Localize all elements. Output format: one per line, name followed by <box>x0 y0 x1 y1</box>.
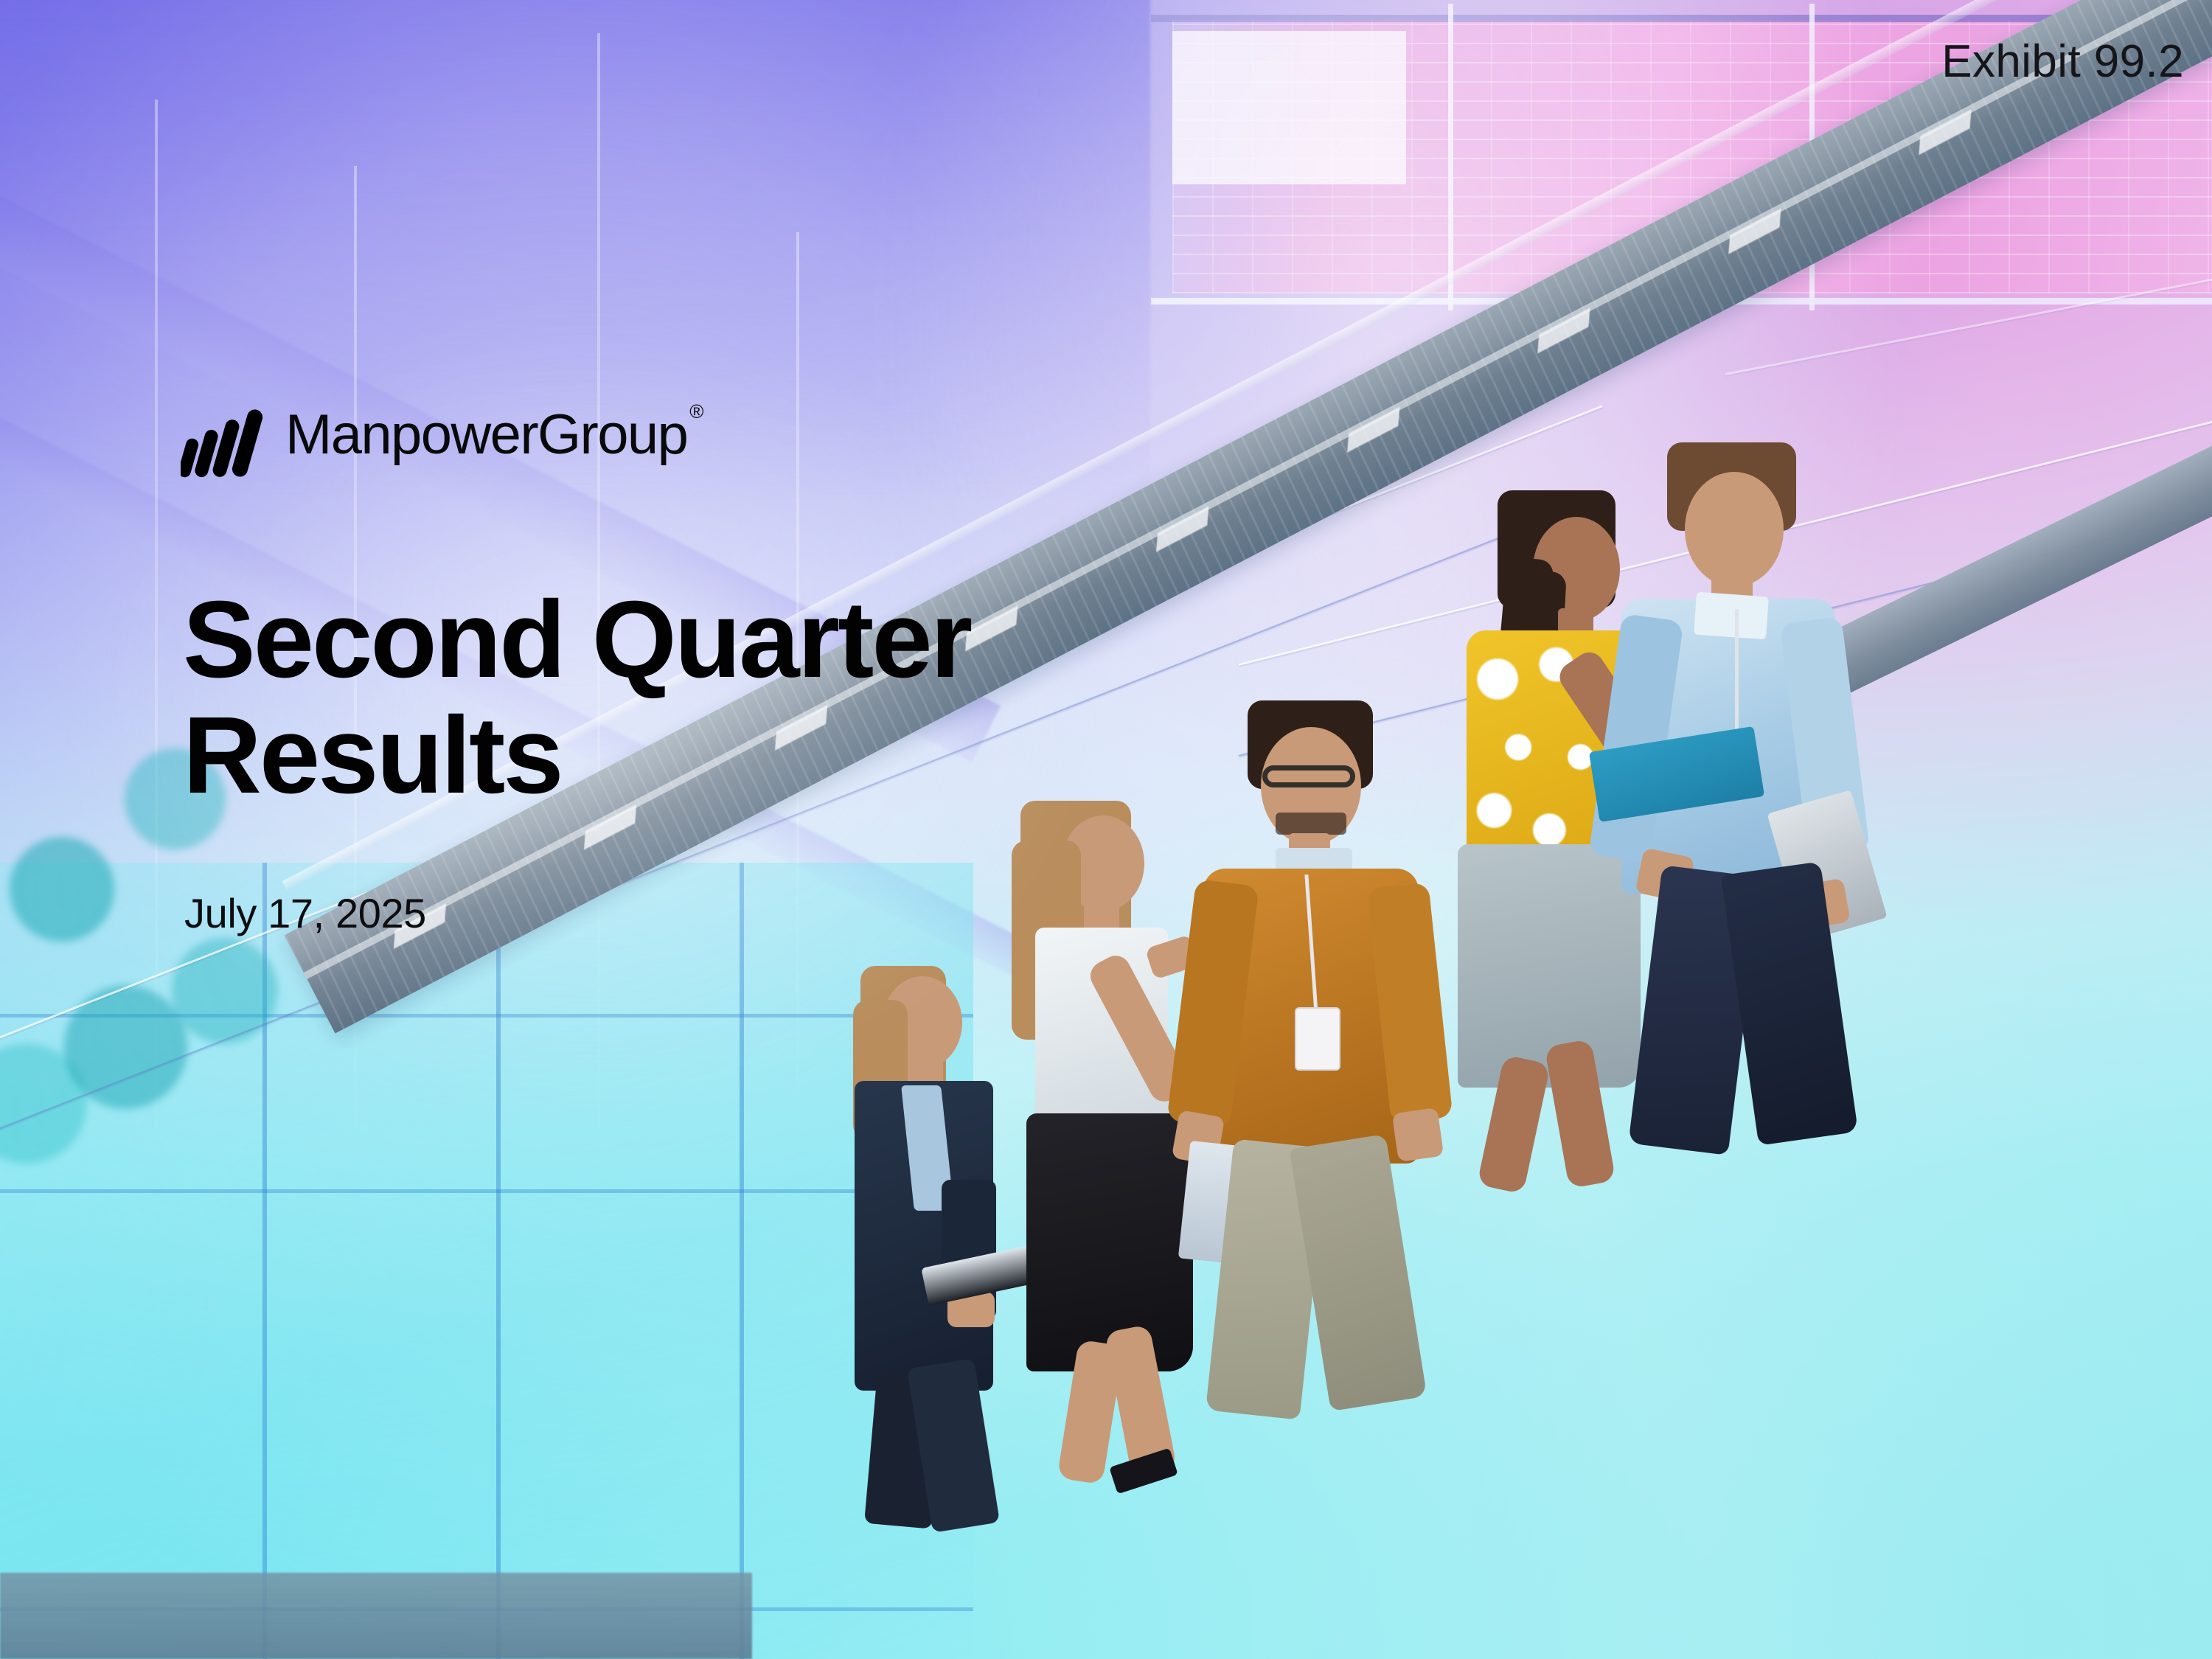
registered-trademark-mark: ® <box>689 400 703 422</box>
step-nosing <box>1919 109 1972 155</box>
glass-mullion-vertical <box>496 863 501 1659</box>
step-nosing <box>1347 407 1399 453</box>
eyeglasses <box>1262 765 1355 787</box>
step-nosing <box>965 605 1018 651</box>
exhibit-label: Exhibit 99.2 <box>1941 35 2184 88</box>
glass-mullion-vertical <box>740 863 744 1659</box>
hand <box>1392 1107 1444 1162</box>
stone-plinth <box>0 1573 752 1659</box>
manpowergroup-bars-icon <box>181 407 263 479</box>
step-nosing <box>1156 507 1208 552</box>
background-photo <box>0 0 2212 1659</box>
presentation-title-slide: Exhibit 99.2 ManpowerGroup® Second Quart… <box>0 0 2212 1659</box>
person-man-amber-sweater <box>1165 700 1438 1438</box>
olive-trousers <box>1290 1134 1427 1411</box>
brand-wordmark: ManpowerGroup® <box>285 407 701 463</box>
shirt-collar <box>1694 592 1769 640</box>
presentation-date: July 17, 2025 <box>184 889 426 937</box>
lanyard-cord <box>1735 609 1739 739</box>
brand-lockup: ManpowerGroup® <box>181 407 701 479</box>
brand-wordmark-text: ManpowerGroup <box>285 403 687 466</box>
step-nosing <box>1728 209 1781 254</box>
beard <box>1276 813 1346 835</box>
id-badge <box>1295 1007 1340 1071</box>
head <box>1685 472 1784 587</box>
person-man-blue-shirt <box>1604 442 1854 1165</box>
step-nosing <box>1537 307 1590 353</box>
page-title: Second Quarter Results <box>183 582 970 814</box>
